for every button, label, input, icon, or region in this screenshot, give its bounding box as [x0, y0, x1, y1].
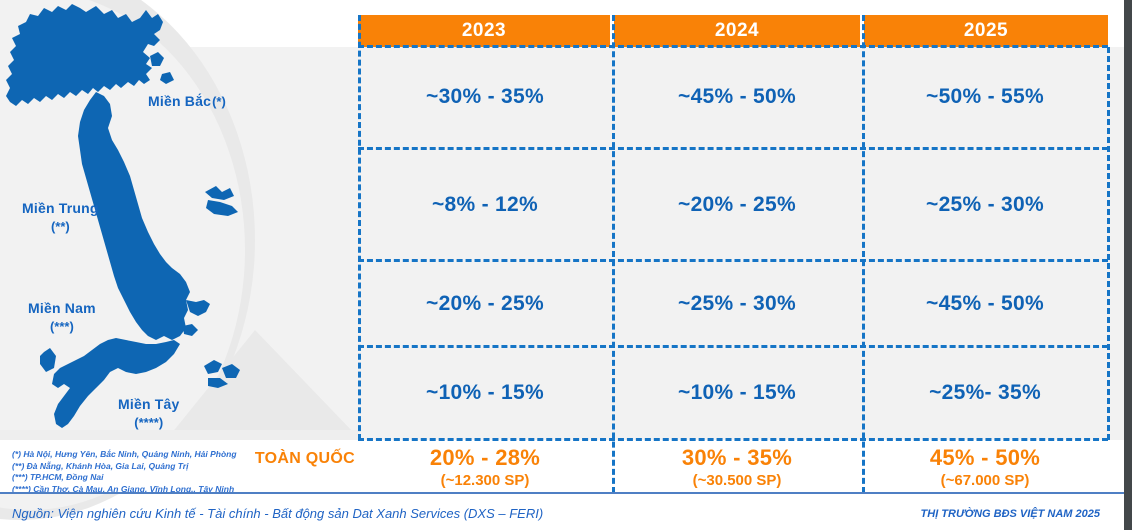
- region-marker: (****): [118, 415, 180, 430]
- table-cell: ~30% - 35%: [358, 47, 612, 147]
- region-name: Miền Tây: [118, 396, 180, 412]
- table-cell: ~20% - 25%: [358, 262, 612, 345]
- region-label-mien-trung: Miền Trung (**): [22, 200, 99, 234]
- region-marker: (**): [22, 219, 99, 234]
- source-note: Nguồn: Viện nghiên cứu Kinh tế - Tài chí…: [12, 506, 543, 521]
- total-cell: 45% - 50% (~67.000 SP): [862, 446, 1108, 490]
- total-subvalue: (~30.500 SP): [693, 473, 782, 490]
- region-marker: (***): [28, 319, 96, 334]
- column-header-2025: 2025: [864, 15, 1108, 47]
- table-cell: ~20% - 25%: [612, 150, 862, 259]
- total-subvalue: (~67.000 SP): [941, 473, 1030, 490]
- total-value: 30% - 35%: [682, 446, 792, 470]
- column-header-2023: 2023: [358, 15, 610, 47]
- region-label-mien-tay: Miền Tây (****): [118, 396, 180, 430]
- table-cell: ~50% - 55%: [862, 47, 1108, 147]
- report-label: THỊ TRƯỜNG BĐS VIỆT NAM 2025: [921, 508, 1100, 520]
- table-cell: ~10% - 15%: [612, 348, 862, 438]
- table-cell: ~45% - 50%: [612, 47, 862, 147]
- column-header-2024: 2024: [614, 15, 860, 47]
- total-cell: 30% - 35% (~30.500 SP): [612, 446, 862, 490]
- region-name: Miền Bắc: [148, 93, 211, 109]
- total-subvalue: (~12.300 SP): [441, 473, 530, 490]
- table-cell: ~45% - 50%: [862, 262, 1108, 345]
- region-name: Miền Nam: [28, 300, 96, 316]
- region-marker: (*): [212, 94, 226, 109]
- table-cell: ~25%- 35%: [862, 348, 1108, 438]
- total-value: 45% - 50%: [930, 446, 1040, 470]
- grid-line-horizontal: [358, 438, 1108, 441]
- footnotes: (*) Hà Nội, Hưng Yên, Bắc Ninh, Quảng Ni…: [12, 449, 237, 495]
- table-cell: ~10% - 15%: [358, 348, 612, 438]
- total-value: 20% - 28%: [430, 446, 540, 470]
- bottom-divider: [0, 492, 1124, 494]
- table-cell: ~25% - 30%: [612, 262, 862, 345]
- table-cell: ~25% - 30%: [862, 150, 1108, 259]
- slide-canvas: Miền Bắc(*) Miền Trung (**) Miền Nam (**…: [0, 0, 1132, 530]
- footnote-1: (*) Hà Nội, Hưng Yên, Bắc Ninh, Quảng Ni…: [12, 449, 237, 461]
- region-label-mien-nam: Miền Nam (***): [28, 300, 96, 334]
- total-cell: 20% - 28% (~12.300 SP): [358, 446, 612, 490]
- table-cell: ~8% - 12%: [358, 150, 612, 259]
- region-name: Miền Trung: [22, 200, 99, 216]
- footnote-2: (**) Đà Nẵng, Khánh Hòa, Gia Lai, Quảng …: [12, 461, 237, 473]
- right-edge-strip: [1124, 0, 1132, 530]
- footnote-3: (***) TP.HCM, Đồng Nai: [12, 472, 237, 484]
- region-label-mien-bac: Miền Bắc(*): [148, 93, 226, 111]
